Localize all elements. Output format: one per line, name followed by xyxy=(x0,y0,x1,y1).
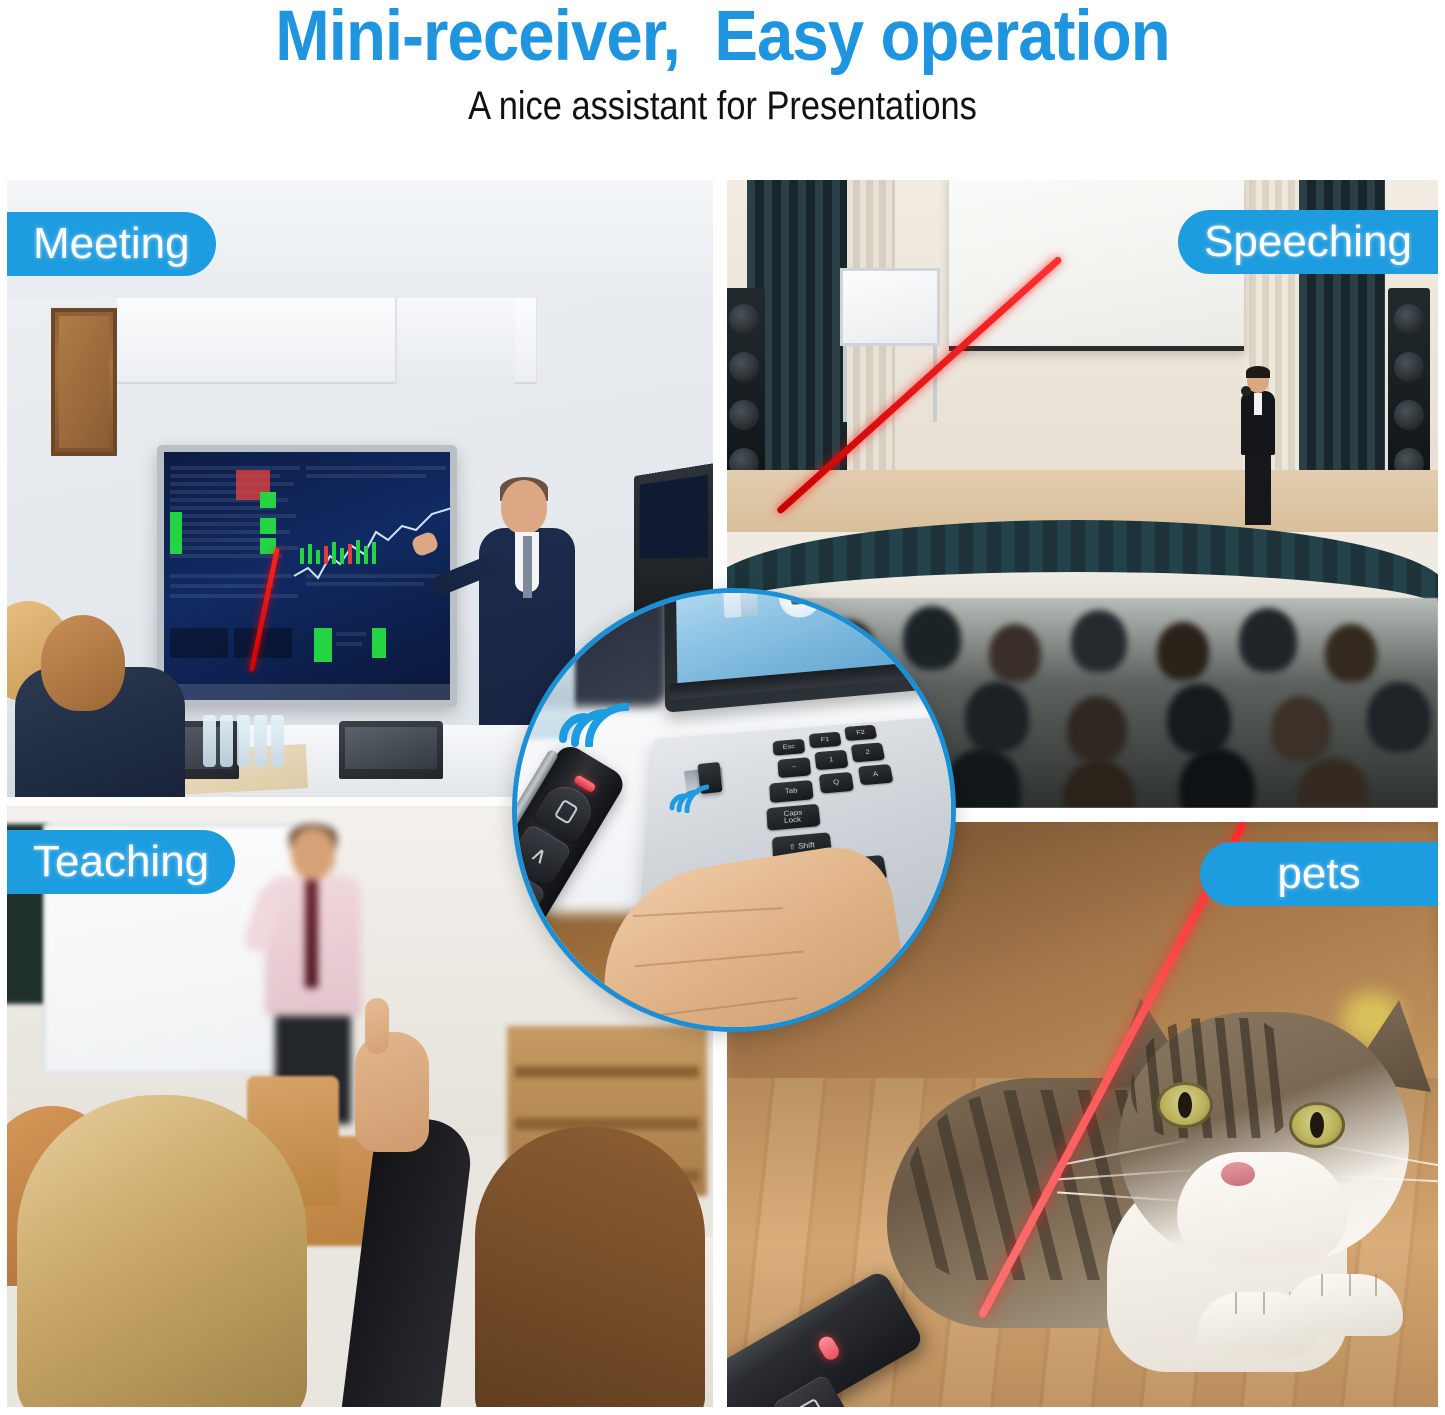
usb-drive-icon xyxy=(778,588,823,619)
key-caps-lock[interactable]: CapsLock xyxy=(767,804,821,831)
badge-pets: pets xyxy=(1200,842,1438,906)
wall-cabinet-panel xyxy=(395,298,515,384)
wifi-signal-remote-icon xyxy=(555,689,629,747)
key-f1[interactable]: F1 xyxy=(809,732,842,749)
screen-icon-detail xyxy=(553,799,578,825)
page-title: Mini-receiver, Easy operation xyxy=(58,0,1387,76)
wood-wall-box xyxy=(51,308,117,456)
student-blonde-hair xyxy=(17,1095,307,1407)
key-a[interactable]: A xyxy=(858,764,894,785)
student-brown-hair xyxy=(475,1127,705,1407)
speaker-right xyxy=(1388,288,1430,488)
header-banner: Mini-receiver, Easy operation A nice ass… xyxy=(0,0,1445,172)
page-subtitle: A nice assistant for Presentations xyxy=(101,84,1344,128)
cat-eye-right xyxy=(1289,1102,1345,1148)
product-detail-circle-inset: Esc F1 F2 ~ 1 2 Tab Q A CapsLock ⇧ Shift… xyxy=(512,588,956,1032)
remote-label-esc: Esc xyxy=(512,819,514,831)
key-q[interactable]: Q xyxy=(819,772,854,794)
badge-meeting: Meeting xyxy=(7,212,216,276)
key-2[interactable]: 2 xyxy=(851,742,885,762)
speaker-left xyxy=(727,288,765,488)
key-tilde[interactable]: ~ xyxy=(778,757,812,778)
key-f2[interactable]: F2 xyxy=(844,725,877,741)
cat-nose xyxy=(1221,1162,1255,1186)
cat-muzzle xyxy=(1177,1152,1347,1264)
cat-eye-left xyxy=(1157,1082,1213,1128)
key-tab[interactable]: Tab xyxy=(769,780,813,803)
cat-paw-right xyxy=(1283,1274,1403,1336)
key-esc[interactable]: Esc xyxy=(773,739,805,756)
badge-teaching: Teaching xyxy=(7,830,235,894)
cat-head-stripes xyxy=(1131,1018,1291,1138)
finder-icon xyxy=(723,588,758,618)
stage-speaker-person xyxy=(1235,368,1281,528)
raised-hand-student xyxy=(337,1032,467,1407)
flip-whiteboard xyxy=(840,268,940,346)
screen-icon xyxy=(797,1398,826,1407)
badge-speeching: Speeching xyxy=(1178,210,1438,274)
key-1[interactable]: 1 xyxy=(814,750,848,770)
